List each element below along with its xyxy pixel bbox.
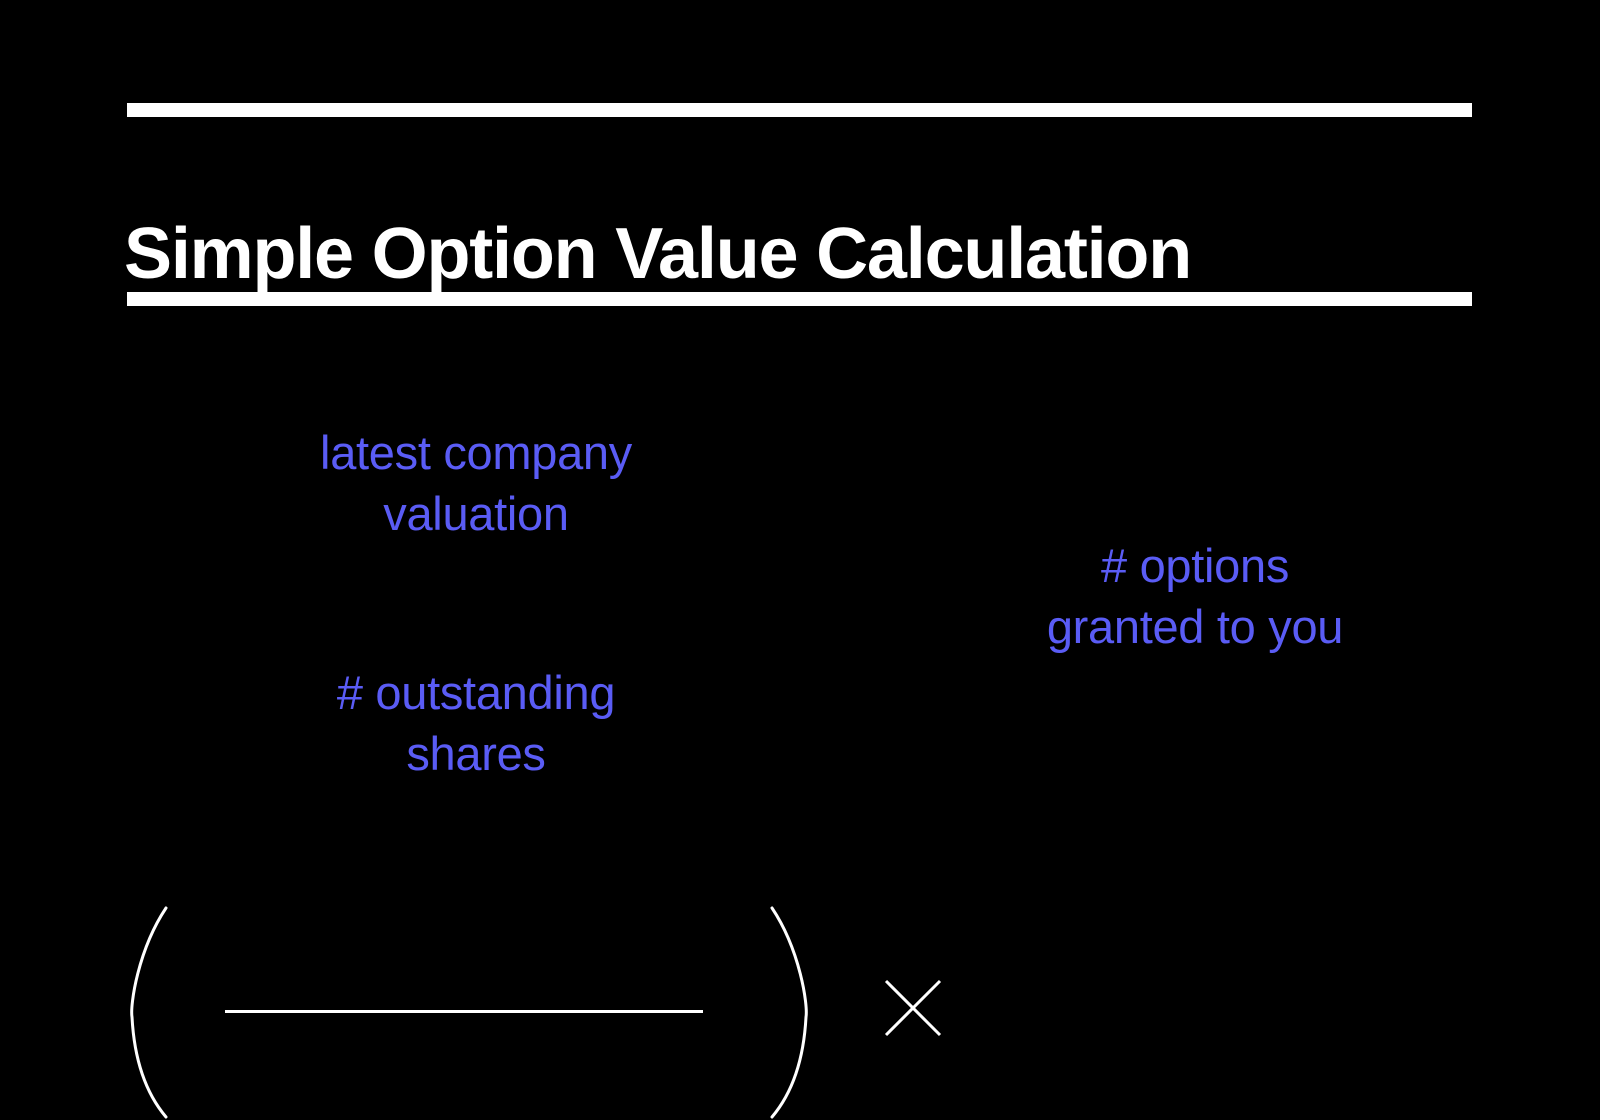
denominator-line-2: shares <box>406 727 545 780</box>
slide-canvas: Simple Option Value Calculation latest c… <box>0 0 1600 980</box>
numerator-line-1: latest company <box>320 426 632 479</box>
page-title: Simple Option Value Calculation <box>124 208 1484 300</box>
fraction-numerator: latest company valuation <box>170 422 782 544</box>
title-rule-bottom <box>127 292 1472 306</box>
multiplier-line-1: # options <box>985 535 1405 596</box>
denominator-line-1: # outstanding <box>337 666 615 719</box>
fraction-denominator: # outstanding shares <box>170 662 782 784</box>
numerator-line-2: valuation <box>383 487 568 540</box>
multiply-icon <box>883 978 943 1038</box>
open-paren-icon <box>128 905 168 1120</box>
title-rule-top <box>127 103 1472 117</box>
multiplier-line-2: granted to you <box>985 596 1405 657</box>
fraction-bar <box>225 1010 703 1013</box>
multiplier-term: # options granted to you <box>985 535 1405 657</box>
formula-group: latest company valuation # outstanding s… <box>0 400 1600 820</box>
close-paren-icon <box>770 905 810 1120</box>
